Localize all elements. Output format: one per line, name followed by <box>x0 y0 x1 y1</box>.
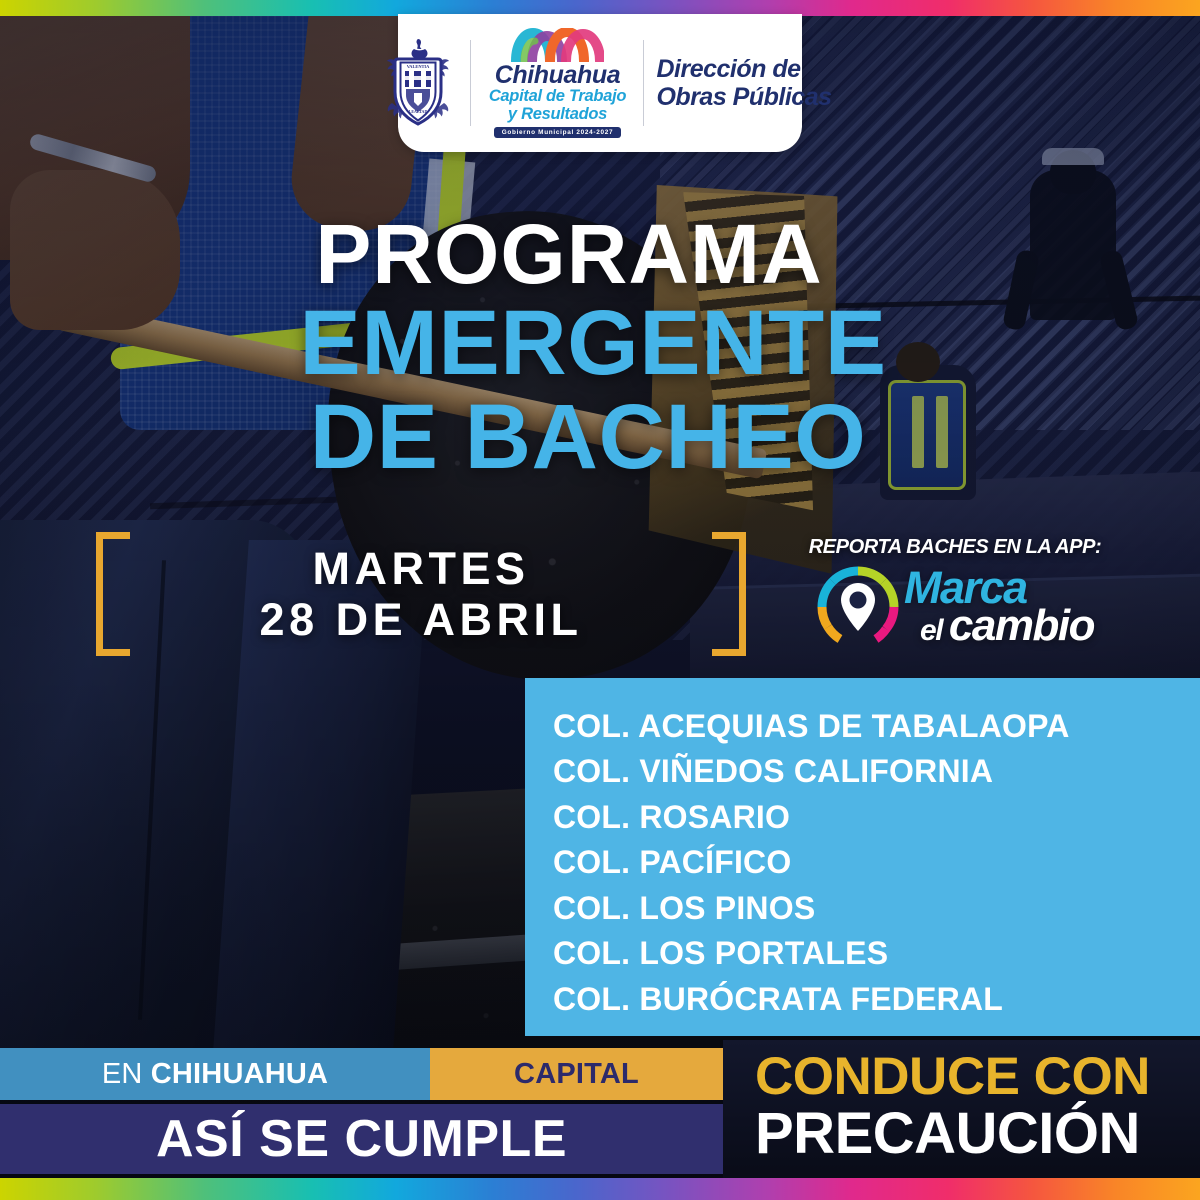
header-divider-2 <box>643 40 644 126</box>
footer-tagline-row: EN CHIHUAHUA CAPITAL <box>0 1048 723 1100</box>
bracket-right-icon <box>712 532 746 656</box>
main-title: PROGRAMA EMERGENTE DE BACHEO <box>0 214 1200 483</box>
warning-line-1: CONDUCE CON <box>755 1050 1185 1103</box>
coat-of-arms-icon: VALENTIA LEALTAD <box>376 31 460 135</box>
department-line-2: Obras Públicas <box>656 83 831 111</box>
footer-slogan-label: ASÍ SE CUMPLE <box>156 1109 567 1169</box>
list-item: COL. BURÓCRATA FEDERAL <box>553 977 1200 1022</box>
date-text: MARTES 28 DE ABRIL <box>130 543 712 646</box>
brand-line-2: Capital de Trabajo <box>489 88 626 106</box>
footer-bar: EN CHIHUAHUA CAPITAL ASÍ SE CUMPLE CONDU… <box>0 1040 1200 1200</box>
list-item: COL. PACÍFICO <box>553 840 1200 885</box>
list-item: COL. LOS PORTALES <box>553 931 1200 976</box>
svg-text:VALENTIA: VALENTIA <box>407 64 430 69</box>
date-weekday: MARTES <box>136 543 706 594</box>
svg-text:LEALTAD: LEALTAD <box>409 109 428 114</box>
footer-tag-chihuahua: EN CHIHUAHUA <box>0 1048 430 1100</box>
bottom-rainbow-strip <box>0 1178 1200 1200</box>
list-item: COL. ACEQUIAS DE TABALAOPA <box>553 704 1200 749</box>
footer-slogan: ASÍ SE CUMPLE <box>0 1104 723 1174</box>
brand-line-1: Chihuahua <box>495 63 621 88</box>
header-divider-1 <box>470 40 471 126</box>
app-name-cambio: cambio <box>949 601 1094 650</box>
footer-tag-capital: CAPITAL <box>430 1048 723 1100</box>
event-date: MARTES 28 DE ABRIL <box>96 528 746 660</box>
bracket-left-icon <box>96 532 130 656</box>
brand-government-period: Gobierno Municipal 2024-2027 <box>494 127 622 138</box>
warning-line-2: PRECAUCIÓN <box>755 1105 1185 1163</box>
app-name-part-2: el cambio <box>920 607 1094 645</box>
chihuahua-brand-logo: Chihuahua Capital de Trabajo y Resultado… <box>481 28 633 138</box>
footer-tag-prefix: EN <box>102 1058 151 1090</box>
footer-tag-bold: CHIHUAHUA <box>151 1058 328 1090</box>
marca-el-cambio-logo[interactable]: Marca el cambio <box>790 565 1120 649</box>
location-pin-icon <box>816 565 900 649</box>
department-name: Dirección de Obras Públicas <box>656 55 831 111</box>
list-item: COL. LOS PINOS <box>553 886 1200 931</box>
list-item: COL. ROSARIO <box>553 795 1200 840</box>
brand-line-3: y Resultados <box>508 106 607 124</box>
department-line-1: Dirección de <box>656 55 831 83</box>
footer-tag-capital-label: CAPITAL <box>514 1058 639 1091</box>
app-name-el: el <box>920 614 949 647</box>
bacheo-program-poster: VALENTIA LEALTAD Chihuahua Capital de Tr… <box>0 0 1200 1200</box>
title-line-1: PROGRAMA <box>0 214 1200 295</box>
app-callout: REPORTA BACHES EN LA APP: Marca el <box>790 536 1120 649</box>
title-line-2: EMERGENTE <box>0 297 1200 389</box>
colonias-list-panel: COL. ACEQUIAS DE TABALAOPA COL. VIÑEDOS … <box>525 678 1200 1036</box>
title-line-3: DE BACHEO <box>0 391 1200 483</box>
chihuahua-arcs-icon <box>510 28 604 62</box>
header-logo-panel: VALENTIA LEALTAD Chihuahua Capital de Tr… <box>398 14 802 152</box>
list-item: COL. VIÑEDOS CALIFORNIA <box>553 749 1200 794</box>
date-day-month: 28 DE ABRIL <box>136 594 706 645</box>
footer-warning: CONDUCE CON PRECAUCIÓN <box>755 1050 1185 1163</box>
app-callout-label: REPORTA BACHES EN LA APP: <box>790 536 1120 559</box>
